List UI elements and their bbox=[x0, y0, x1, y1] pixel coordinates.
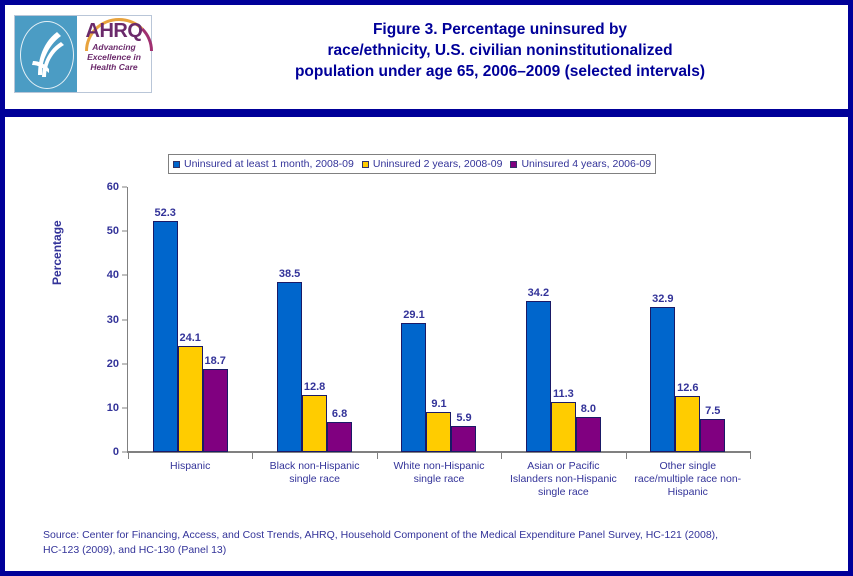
chart-legend: Uninsured at least 1 month, 2008-09Unins… bbox=[168, 154, 656, 174]
bar-value-label: 11.3 bbox=[553, 388, 574, 400]
x-category-label-line: White non-Hispanic bbox=[380, 460, 498, 473]
bar-group-bars: 32.912.67.5 bbox=[626, 187, 750, 452]
legend-entry-3[interactable]: Uninsured 4 years, 2006-09 bbox=[510, 159, 651, 170]
bar-group: 32.912.67.5Other singlerace/multiple rac… bbox=[626, 187, 750, 452]
x-category-label: Black non-Hispanicsingle race bbox=[256, 460, 374, 486]
y-tick-mark-30 bbox=[122, 319, 127, 320]
bar-value-label: 8.0 bbox=[581, 403, 596, 415]
x-category-label: Other singlerace/multiple race non-Hispa… bbox=[629, 460, 747, 499]
x-category-label-line: Other single bbox=[629, 460, 747, 473]
bar-group-bars: 29.19.15.9 bbox=[377, 187, 501, 452]
ahrq-acronym: AHRQ bbox=[77, 21, 151, 42]
y-tick-label-40: 40 bbox=[107, 269, 119, 281]
bar-value-label: 5.9 bbox=[456, 412, 471, 424]
bar-value-label: 18.7 bbox=[204, 355, 225, 367]
x-tick-mark-3 bbox=[501, 453, 502, 459]
hhs-eagle-seal-icon bbox=[15, 16, 77, 92]
legend-entry-1[interactable]: Uninsured at least 1 month, 2008-09 bbox=[173, 159, 354, 170]
figure-title-line-1: Figure 3. Percentage uninsured by bbox=[165, 19, 835, 40]
bar-series-2[interactable]: 12.8 bbox=[302, 395, 327, 452]
y-tick-label-50: 50 bbox=[107, 225, 119, 237]
bar-series-1[interactable]: 52.3 bbox=[153, 221, 178, 452]
bar-series-3[interactable]: 18.7 bbox=[203, 369, 228, 452]
x-category-label: Asian or PacificIslanders non-Hispanicsi… bbox=[504, 460, 622, 499]
ahrq-tagline-line-2: Excellence in bbox=[77, 52, 151, 62]
legend-label: Uninsured 2 years, 2008-09 bbox=[373, 159, 503, 170]
figure-frame: AHRQ Advancing Excellence in Health Care… bbox=[0, 0, 853, 576]
ahrq-logo: AHRQ Advancing Excellence in Health Care bbox=[14, 15, 152, 93]
y-tick-mark-60 bbox=[122, 187, 127, 188]
x-tick-mark-4 bbox=[626, 453, 627, 459]
bar-value-label: 6.8 bbox=[332, 408, 347, 420]
y-tick-mark-50 bbox=[122, 231, 127, 232]
y-tick-label-0: 0 bbox=[113, 446, 119, 458]
bar-group: 38.512.86.8Black non-Hispanicsingle race bbox=[252, 187, 376, 452]
bar-group-bars: 38.512.86.8 bbox=[252, 187, 376, 452]
plot-inner: 010203040506052.324.118.7Hispanic38.512.… bbox=[128, 187, 750, 452]
bar-series-3[interactable]: 5.9 bbox=[451, 426, 476, 452]
bar-value-label: 9.1 bbox=[431, 398, 446, 410]
y-tick-mark-20 bbox=[122, 363, 127, 364]
source-note: Source: Center for Financing, Access, an… bbox=[43, 528, 823, 558]
x-category-label-line: single race bbox=[256, 473, 374, 486]
x-category-label-line: Hispanic bbox=[629, 486, 747, 499]
y-tick-label-10: 10 bbox=[107, 402, 119, 414]
legend-swatch-icon bbox=[510, 161, 517, 168]
y-tick-label-30: 30 bbox=[107, 314, 119, 326]
figure-header: AHRQ Advancing Excellence in Health Care… bbox=[5, 5, 848, 108]
bar-value-label: 12.8 bbox=[304, 381, 325, 393]
legend-label: Uninsured 4 years, 2006-09 bbox=[521, 159, 651, 170]
ahrq-wordmark: AHRQ Advancing Excellence in Health Care bbox=[77, 16, 151, 92]
bar-series-1[interactable]: 29.1 bbox=[401, 323, 426, 452]
source-note-line-2: HC-123 (2009), and HC-130 (Panel 13) bbox=[43, 543, 823, 558]
bar-value-label: 7.5 bbox=[705, 405, 720, 417]
x-category-label-line: race/multiple race non- bbox=[629, 473, 747, 486]
x-category-label: Hispanic bbox=[131, 460, 249, 473]
bar-series-1[interactable]: 32.9 bbox=[650, 307, 675, 452]
x-category-label-line: single race bbox=[504, 486, 622, 499]
header-divider bbox=[5, 109, 848, 117]
bar-series-2[interactable]: 12.6 bbox=[675, 396, 700, 452]
source-note-line-1: Source: Center for Financing, Access, an… bbox=[43, 528, 823, 543]
y-tick-label-20: 20 bbox=[107, 358, 119, 370]
bar-series-3[interactable]: 8.0 bbox=[576, 417, 601, 452]
bar-value-label: 34.2 bbox=[528, 287, 549, 299]
bar-value-label: 29.1 bbox=[403, 309, 424, 321]
legend-label: Uninsured at least 1 month, 2008-09 bbox=[184, 159, 354, 170]
bar-group: 52.324.118.7Hispanic bbox=[128, 187, 252, 452]
bar-series-3[interactable]: 6.8 bbox=[327, 422, 352, 452]
bar-group: 34.211.38.0Asian or PacificIslanders non… bbox=[501, 187, 625, 452]
figure-title-line-3: population under age 65, 2006–2009 (sele… bbox=[165, 61, 835, 82]
bar-value-label: 12.6 bbox=[677, 382, 698, 394]
bar-series-1[interactable]: 38.5 bbox=[277, 282, 302, 452]
y-tick-mark-10 bbox=[122, 407, 127, 408]
bar-value-label: 32.9 bbox=[652, 293, 673, 305]
plot-area: 010203040506052.324.118.7Hispanic38.512.… bbox=[128, 187, 750, 452]
bar-series-3[interactable]: 7.5 bbox=[700, 419, 725, 452]
legend-swatch-icon bbox=[173, 161, 180, 168]
bar-value-label: 38.5 bbox=[279, 268, 300, 280]
ahrq-tagline-line-3: Health Care bbox=[77, 62, 151, 72]
bar-value-label: 24.1 bbox=[179, 332, 200, 344]
x-category-label-line: Islanders non-Hispanic bbox=[504, 473, 622, 486]
y-tick-label-60: 60 bbox=[107, 181, 119, 193]
figure-title: Figure 3. Percentage uninsured by race/e… bbox=[165, 19, 835, 82]
x-category-label-line: Asian or Pacific bbox=[504, 460, 622, 473]
bar-series-2[interactable]: 11.3 bbox=[551, 402, 576, 452]
y-tick-mark-40 bbox=[122, 275, 127, 276]
bar-value-label: 52.3 bbox=[154, 207, 175, 219]
bar-group-bars: 52.324.118.7 bbox=[128, 187, 252, 452]
x-tick-mark-2 bbox=[377, 453, 378, 459]
bar-group: 29.19.15.9White non-Hispanicsingle race bbox=[377, 187, 501, 452]
x-category-label-line: Black non-Hispanic bbox=[256, 460, 374, 473]
x-category-label-line: single race bbox=[380, 473, 498, 486]
legend-entry-2[interactable]: Uninsured 2 years, 2008-09 bbox=[362, 159, 503, 170]
bar-chart: Uninsured at least 1 month, 2008-09Unins… bbox=[5, 117, 848, 517]
bar-group-bars: 34.211.38.0 bbox=[501, 187, 625, 452]
bar-series-2[interactable]: 9.1 bbox=[426, 412, 451, 452]
y-tick-mark-0 bbox=[122, 452, 127, 453]
x-tick-mark-5 bbox=[750, 453, 751, 459]
bar-series-1[interactable]: 34.2 bbox=[526, 301, 551, 452]
y-axis-title: Percentage bbox=[50, 220, 64, 285]
x-tick-mark-0 bbox=[128, 453, 129, 459]
bar-series-2[interactable]: 24.1 bbox=[178, 346, 203, 452]
x-category-label: White non-Hispanicsingle race bbox=[380, 460, 498, 486]
x-category-label-line: Hispanic bbox=[131, 460, 249, 473]
legend-swatch-icon bbox=[362, 161, 369, 168]
figure-title-line-2: race/ethnicity, U.S. civilian noninstitu… bbox=[165, 40, 835, 61]
x-tick-mark-1 bbox=[252, 453, 253, 459]
